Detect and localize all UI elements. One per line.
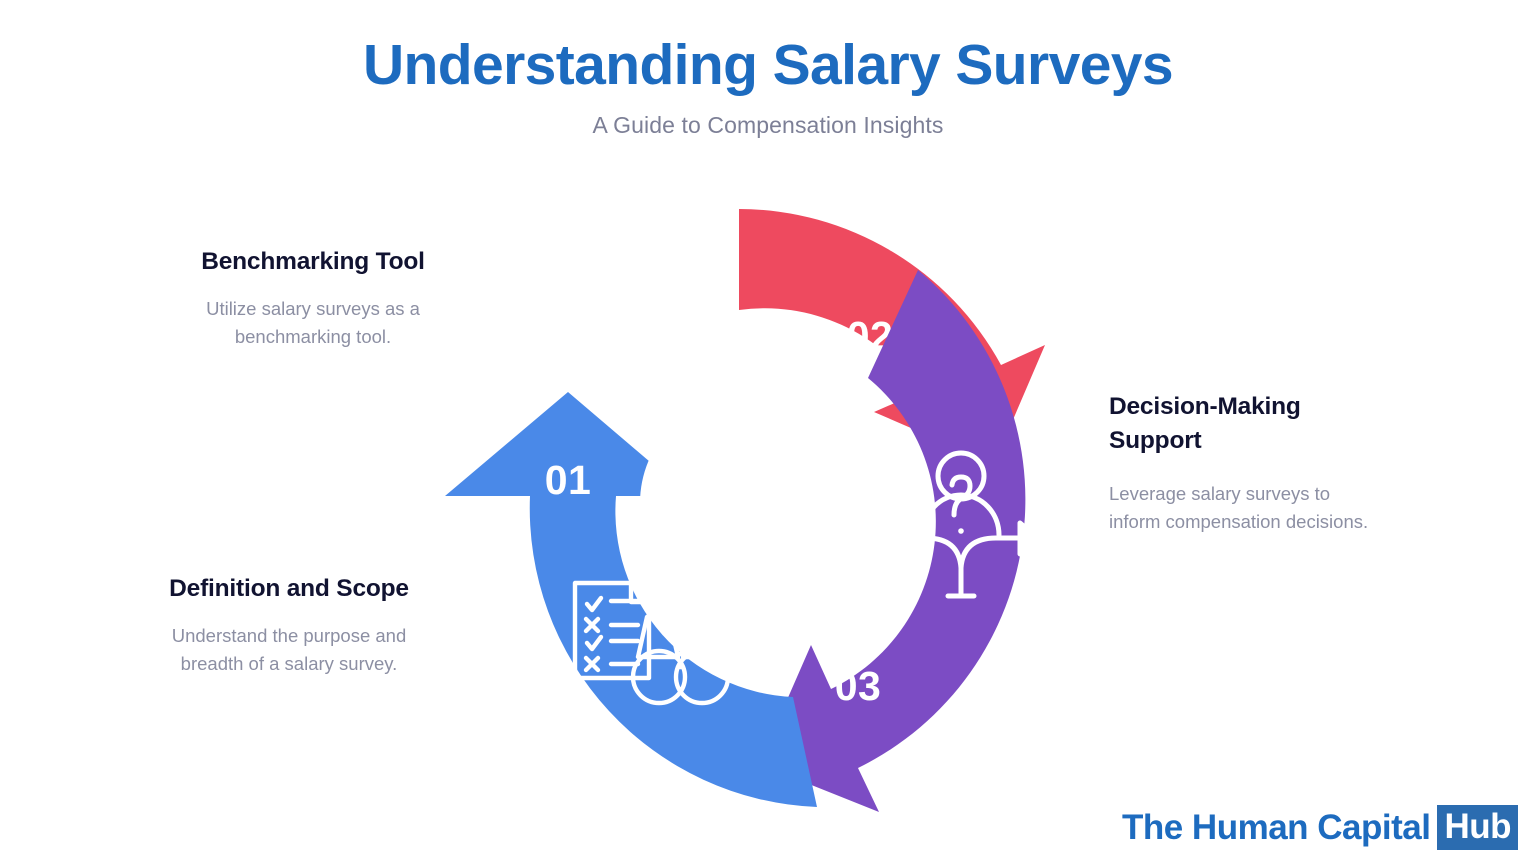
brand-logo-text: The Human Capital <box>1122 810 1430 845</box>
cycle-diagram: 02 <box>428 198 1068 823</box>
pie-chart-magnifier-icon <box>605 253 747 418</box>
page-subtitle: A Guide to Compensation Insights <box>0 98 1536 139</box>
step-number-03: 03 <box>835 663 882 709</box>
info-desc-definition: Understand the purpose and breadth of a … <box>148 606 430 678</box>
step-number-01: 01 <box>545 457 592 503</box>
brand-logo[interactable]: The Human Capital Hub <box>1122 804 1518 850</box>
info-title-definition: Definition and Scope <box>148 572 430 606</box>
info-block-decision: Decision-Making Support Leverage salary … <box>1109 390 1377 536</box>
cycle-center-hole <box>640 395 856 611</box>
info-block-definition: Definition and Scope Understand the purp… <box>148 572 430 678</box>
info-block-benchmarking: Benchmarking Tool Utilize salary surveys… <box>148 245 478 351</box>
info-title-decision: Decision-Making Support <box>1109 390 1377 458</box>
info-desc-benchmarking: Utilize salary surveys as a benchmarking… <box>148 279 478 351</box>
page-title: Understanding Salary Surveys <box>0 0 1536 98</box>
header: Understanding Salary Surveys A Guide to … <box>0 0 1536 139</box>
info-title-benchmarking: Benchmarking Tool <box>148 245 478 279</box>
brand-logo-badge: Hub <box>1437 805 1518 850</box>
info-desc-decision: Leverage salary surveys to inform compen… <box>1109 458 1377 536</box>
cycle-diagram-svg: 02 <box>428 198 1068 823</box>
